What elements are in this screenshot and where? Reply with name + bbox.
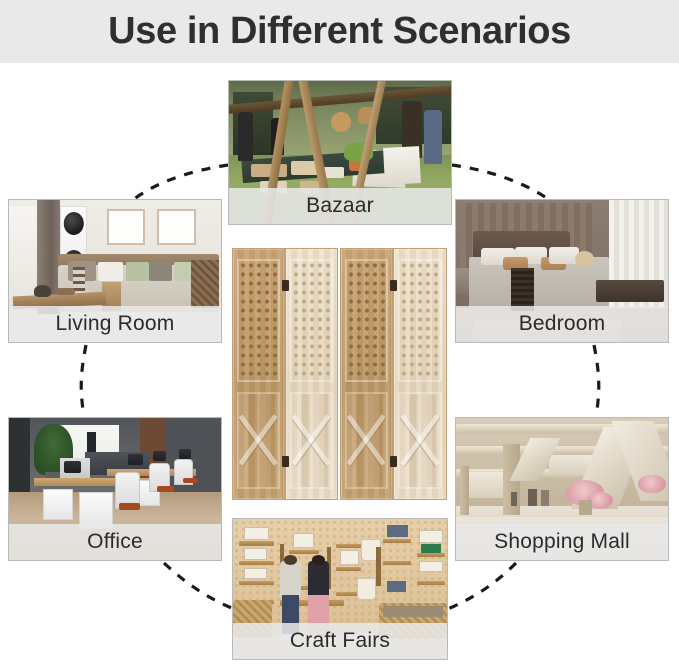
hinge-icon [390, 456, 397, 467]
hinge-icon [282, 280, 289, 291]
arc-shopping-mall-craft-fairs [438, 563, 516, 613]
arc-bazaar-bedroom [452, 165, 548, 199]
scenario-label-shopping-mall: Shopping Mall [456, 524, 668, 560]
scenario-card-shopping-mall[interactable]: Shopping Mall [455, 417, 669, 561]
divider-panel-3 [340, 248, 393, 500]
pegboard-frame [237, 259, 281, 382]
scenario-card-bedroom[interactable]: Bedroom [455, 199, 669, 343]
product-room-divider [232, 248, 447, 500]
scenario-label-office: Office [9, 524, 221, 560]
pegboard-frame [345, 259, 389, 382]
divider-panel-2 [285, 248, 338, 500]
divider-panel-1 [232, 248, 285, 500]
scenario-label-living-room: Living Room [9, 306, 221, 342]
pegboard-holes [400, 261, 441, 380]
scenario-label-bedroom: Bedroom [456, 306, 668, 342]
arc-bedroom-shopping-mall [594, 345, 599, 416]
hinge-icon [282, 456, 289, 467]
scenario-card-craft-fairs[interactable]: Craft Fairs [232, 518, 448, 660]
pegboard-holes [239, 261, 279, 380]
arc-bazaar-living-room [134, 165, 228, 199]
hinge-icon [390, 280, 397, 291]
x-brace-frame [398, 392, 443, 490]
page-title: Use in Different Scenarios [0, 0, 679, 63]
scenario-card-bazaar[interactable]: Bazaar [228, 80, 452, 225]
pegboard-holes [292, 261, 332, 380]
x-brace-frame [345, 392, 389, 490]
scenario-card-living-room[interactable]: Living Room [8, 199, 222, 343]
scenario-label-craft-fairs: Craft Fairs [233, 623, 447, 659]
scenario-infographic: Use in Different Scenarios [0, 0, 679, 664]
x-brace-frame [290, 392, 334, 490]
scenario-card-office[interactable]: Office [8, 417, 222, 561]
pegboard-holes [347, 261, 387, 380]
pegboard-frame [290, 259, 334, 382]
arc-living-room-office [81, 345, 86, 416]
scenario-label-bazaar: Bazaar [229, 188, 451, 224]
x-brace-frame [237, 392, 281, 490]
divider-panel-4 [393, 248, 447, 500]
pegboard-frame [398, 259, 443, 382]
